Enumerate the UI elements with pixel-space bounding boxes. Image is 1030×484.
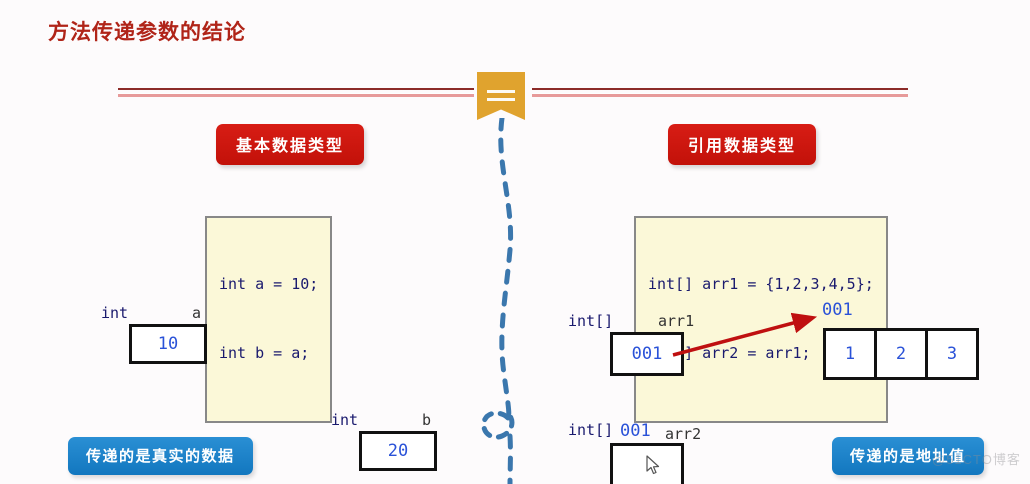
divider-rule-bottom [118,93,474,97]
variable-diagram-arr2: int[] 001 arr2 [568,421,708,484]
divider-right [532,88,908,97]
array-cells: 1 2 3 [823,328,979,380]
bookmark-ribbon-icon [477,72,525,120]
variable-type-label: int[] [568,312,613,330]
variable-name-label: b [422,411,431,429]
variable-name-label: a [192,304,201,322]
code-line: int a = 10; [219,273,318,296]
array-cell: 3 [925,328,979,380]
variable-labels: int[] 001 arr2 [568,421,708,443]
divider-left [118,88,474,97]
code-block-primitive: int a = 10; int b = a; [205,216,332,423]
conclusion-badge-left[interactable]: 传递的是真实的数据 [68,437,253,475]
variable-type-label: int [101,304,128,322]
variable-value-box [610,443,684,484]
section-badge-reference[interactable]: 引用数据类型 [668,124,816,165]
variable-labels: int a [101,304,207,324]
watermark-text: @51CTO博客 [932,449,1021,468]
variable-labels: int[] arr1 [568,312,698,332]
divider-rule-top [532,88,908,90]
variable-type-label: int[] [568,421,613,439]
variable-labels: int b [331,411,437,431]
ribbon-bar-lower [487,98,515,101]
variable-name-label: arr2 [665,425,701,443]
divider-rule-top [118,88,474,90]
dashed-divider-line [452,118,562,484]
page-title: 方法传递参数的结论 [48,16,246,46]
variable-address-label: 001 [620,421,651,441]
divider-rule-bottom [532,93,908,97]
slide-canvas: 方法传递参数的结论 基本数据类型 引用数据类型 int a = 10; int … [0,0,1030,484]
code-line: int[] arr1 = {1,2,3,4,5}; [648,273,874,296]
variable-value-box: 001 [610,332,684,376]
variable-diagram-a: int a 10 [101,304,207,364]
variable-name-label: arr1 [658,312,694,330]
variable-value-box: 10 [129,324,207,364]
variable-value-box: 20 [359,431,437,471]
array-cell: 1 [823,328,877,380]
variable-diagram-arr1: int[] arr1 001 [568,312,698,376]
section-badge-primitive[interactable]: 基本数据类型 [216,124,364,165]
variable-diagram-b: int b 20 [331,411,437,471]
variable-type-label: int [331,411,358,429]
code-line: int b = a; [219,342,318,365]
array-address-label: 001 [822,300,853,320]
ribbon-bar-upper [487,90,515,93]
array-cell: 2 [874,328,928,380]
